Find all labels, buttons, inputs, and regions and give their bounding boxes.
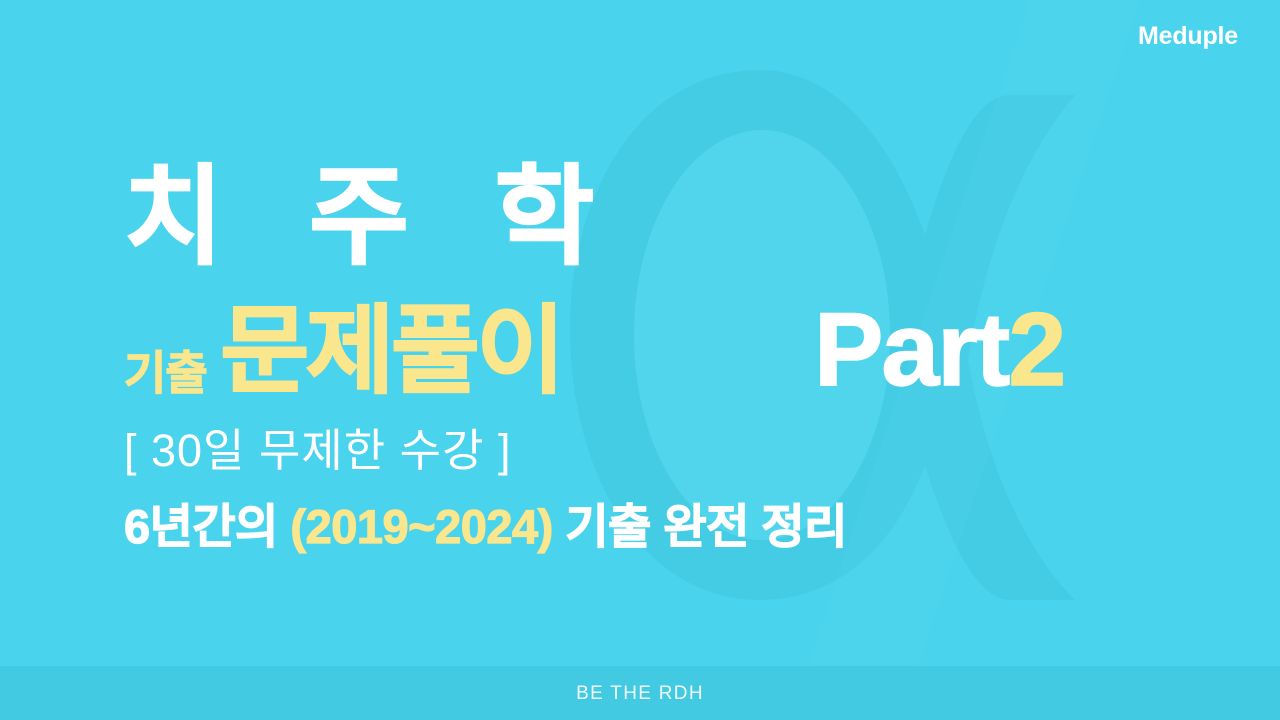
brand-logo: Meduple <box>1138 24 1238 49</box>
slide-canvas: Meduple 치 주 학 기출 문제풀이 Part2 [ 30일 무제한 수강… <box>0 0 1280 720</box>
title-prefix-label: 기출 <box>124 350 207 400</box>
footer-tagline: BE THE RDH <box>576 684 704 703</box>
footer-bar: BE THE RDH <box>0 666 1280 720</box>
subject-line: 기출 문제풀이 <box>124 304 562 400</box>
range-years-label: (2019~2024) <box>290 500 552 553</box>
title-block: 치 주 학 <box>124 160 1224 274</box>
range-suffix-label: 기출 완전 정리 <box>553 500 847 553</box>
course-duration-label: [ 30일 무제한 수강 ] <box>124 428 511 473</box>
range-prefix-label: 6년간의 <box>124 500 290 553</box>
part-label: Part2 <box>814 298 1064 402</box>
year-range-line: 6년간의 (2019~2024) 기출 완전 정리 <box>124 503 847 550</box>
part-number-label: 2 <box>1008 292 1064 408</box>
subtitle-row: 기출 문제풀이 Part2 <box>124 288 1244 400</box>
title-emphasis-label: 문제풀이 <box>221 304 562 400</box>
part-word-label: Part <box>814 292 1008 408</box>
page-title: 치 주 학 <box>124 160 1224 274</box>
